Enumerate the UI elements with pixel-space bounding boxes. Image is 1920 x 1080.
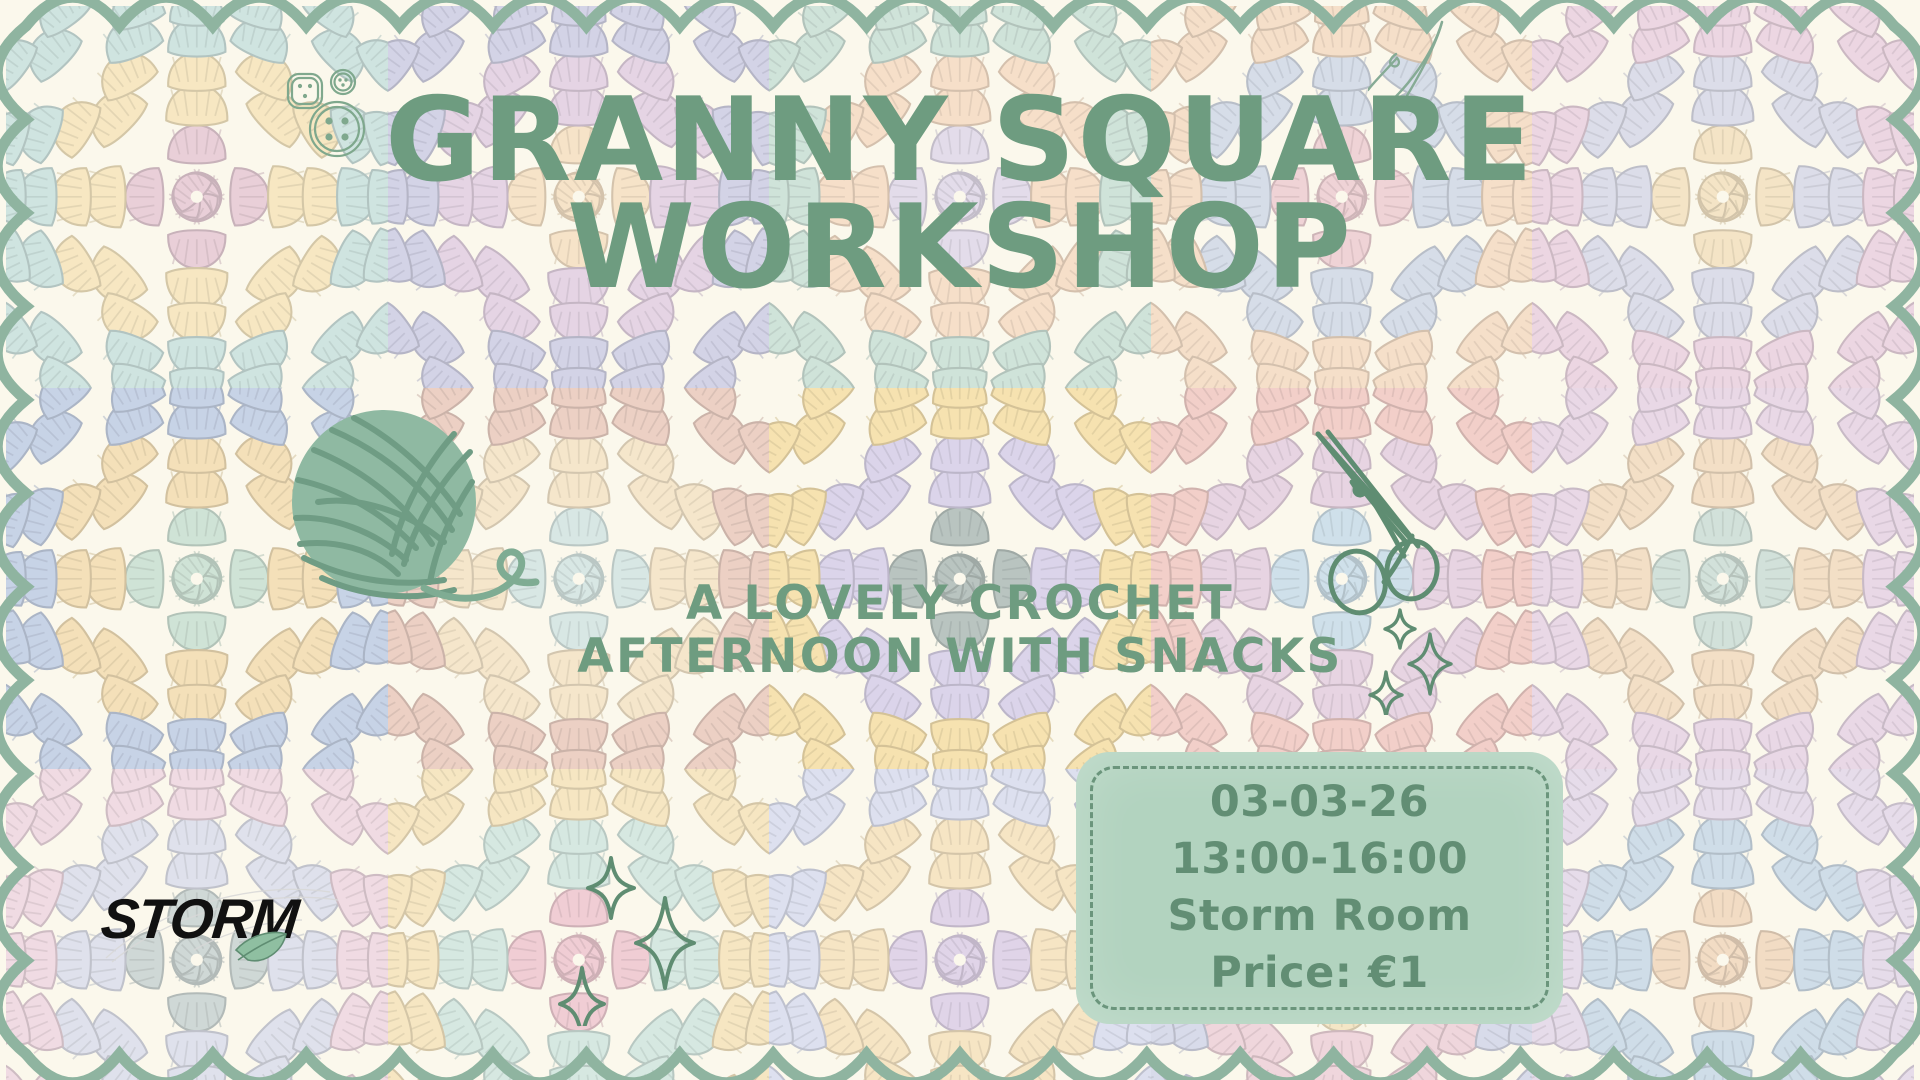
event-price: Price: €1	[1210, 946, 1429, 1001]
headline-line-1: GRANNY SQUARE	[0, 88, 1920, 195]
event-location: Storm Room	[1167, 889, 1471, 944]
subtitle: A LOVELY CROCHET AFTERNOON WITH SNACKS	[0, 578, 1920, 683]
event-time: 13:00-16:00	[1171, 832, 1468, 887]
page-title: GRANNY SQUARE WORKSHOP	[0, 88, 1920, 301]
storm-logo: STORM	[98, 876, 348, 966]
headline-line-2: WORKSHOP	[0, 195, 1920, 302]
event-date: 03-03-26	[1210, 775, 1429, 830]
granny-square	[1532, 769, 1914, 1080]
sparkle-icon	[534, 846, 734, 1026]
event-details-card: 03-03-26 13:00-16:00 Storm Room Price: €…	[1076, 752, 1563, 1024]
subtitle-line-2: AFTERNOON WITH SNACKS	[0, 631, 1920, 684]
poster-canvas: GRANNY SQUARE WORKSHOP A LOVELY CROCHET …	[0, 0, 1920, 1080]
subtitle-line-1: A LOVELY CROCHET	[0, 578, 1920, 631]
